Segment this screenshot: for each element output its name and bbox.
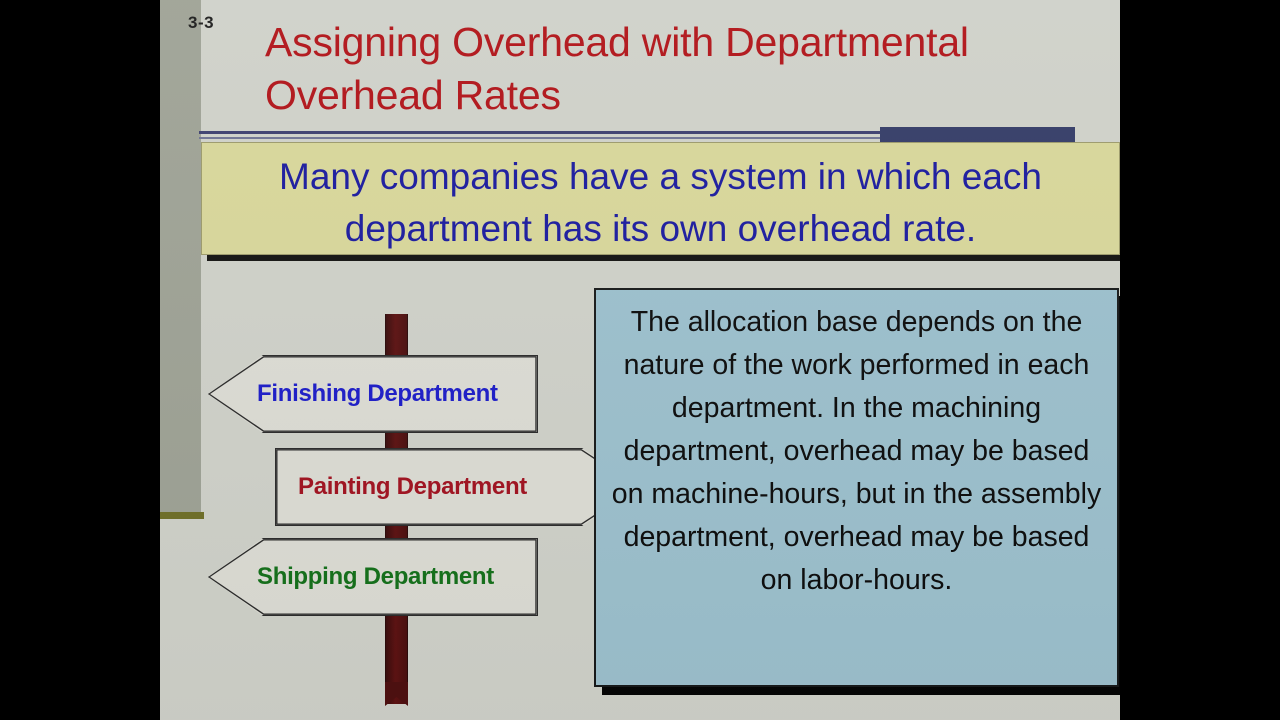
info-callout-box: The allocation base depends on the natur…: [594, 288, 1119, 687]
slide-viewer: 3-3 Assigning Overhead with Departmental…: [0, 0, 1280, 720]
info-callout-text: The allocation base depends on the natur…: [610, 301, 1103, 602]
callout-banner-text: Many companies have a system in which ea…: [202, 151, 1119, 255]
callout-banner: Many companies have a system in which ea…: [201, 142, 1120, 255]
slide-number: 3-3: [188, 13, 214, 33]
sign-finishing-department: Finishing Department: [208, 355, 538, 433]
title-divider-rule-light: [199, 137, 915, 139]
presentation-slide: 3-3 Assigning Overhead with Departmental…: [160, 0, 1120, 720]
sign-shipping-department: Shipping Department: [208, 538, 538, 616]
sign-label: Shipping Department: [209, 563, 494, 591]
page-title: Assigning Overhead with Departmental Ove…: [265, 16, 1075, 122]
sign-label: Finishing Department: [209, 380, 498, 408]
signpost-diagram: Finishing Department Painting Department…: [160, 280, 630, 720]
title-divider-rule: [199, 131, 915, 134]
sign-painting-department: Painting Department: [275, 448, 640, 526]
sign-label: Painting Department: [276, 473, 527, 501]
